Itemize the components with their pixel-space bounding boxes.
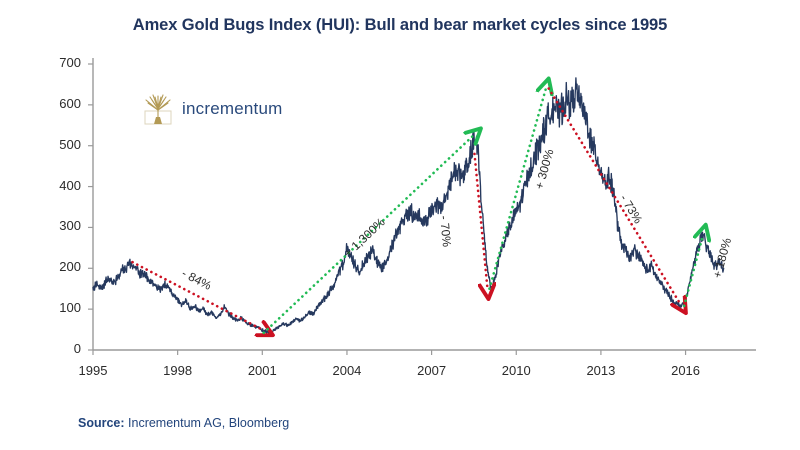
x-axis-tick-label: 2007 xyxy=(410,363,454,378)
x-axis-tick-label: 2016 xyxy=(664,363,708,378)
annotation-label: - 70% xyxy=(437,215,454,248)
y-axis-tick-label: 700 xyxy=(41,55,81,70)
tree-icon xyxy=(143,93,173,125)
x-axis-tick-label: 1998 xyxy=(156,363,200,378)
source-text: Incrementum AG, Bloomberg xyxy=(125,416,290,430)
x-axis-tick-label: 2001 xyxy=(240,363,284,378)
y-axis-tick-label: 500 xyxy=(41,137,81,152)
x-axis-tick-label: 1995 xyxy=(71,363,115,378)
x-axis-tick-label: 2004 xyxy=(325,363,369,378)
y-axis-tick-label: 400 xyxy=(41,178,81,193)
y-axis-tick-label: 0 xyxy=(41,341,81,356)
x-axis-tick-label: 2013 xyxy=(579,363,623,378)
chart-page: Amex Gold Bugs Index (HUI): Bull and bea… xyxy=(0,0,800,450)
y-axis-tick-label: 100 xyxy=(41,300,81,315)
y-axis-tick-label: 200 xyxy=(41,259,81,274)
chart-plot-area xyxy=(0,0,800,450)
annotation-arrow--180- xyxy=(684,235,703,306)
arrow-shaft xyxy=(549,89,681,305)
arrow-shaft xyxy=(684,235,703,306)
incrementum-logo: incrementum xyxy=(143,93,282,125)
arrow-shaft xyxy=(474,154,487,289)
y-axis-tick-label: 300 xyxy=(41,218,81,233)
source-label: Source: xyxy=(78,416,125,430)
annotation-arrow--70- xyxy=(474,154,487,289)
logo-wordmark: incrementum xyxy=(182,99,282,119)
y-axis-tick-label: 600 xyxy=(41,96,81,111)
source-note: Source: Incrementum AG, Bloomberg xyxy=(78,416,289,430)
annotation-arrow--73- xyxy=(549,89,681,305)
x-axis-tick-label: 2010 xyxy=(494,363,538,378)
hui-index-line-chart xyxy=(0,0,800,450)
